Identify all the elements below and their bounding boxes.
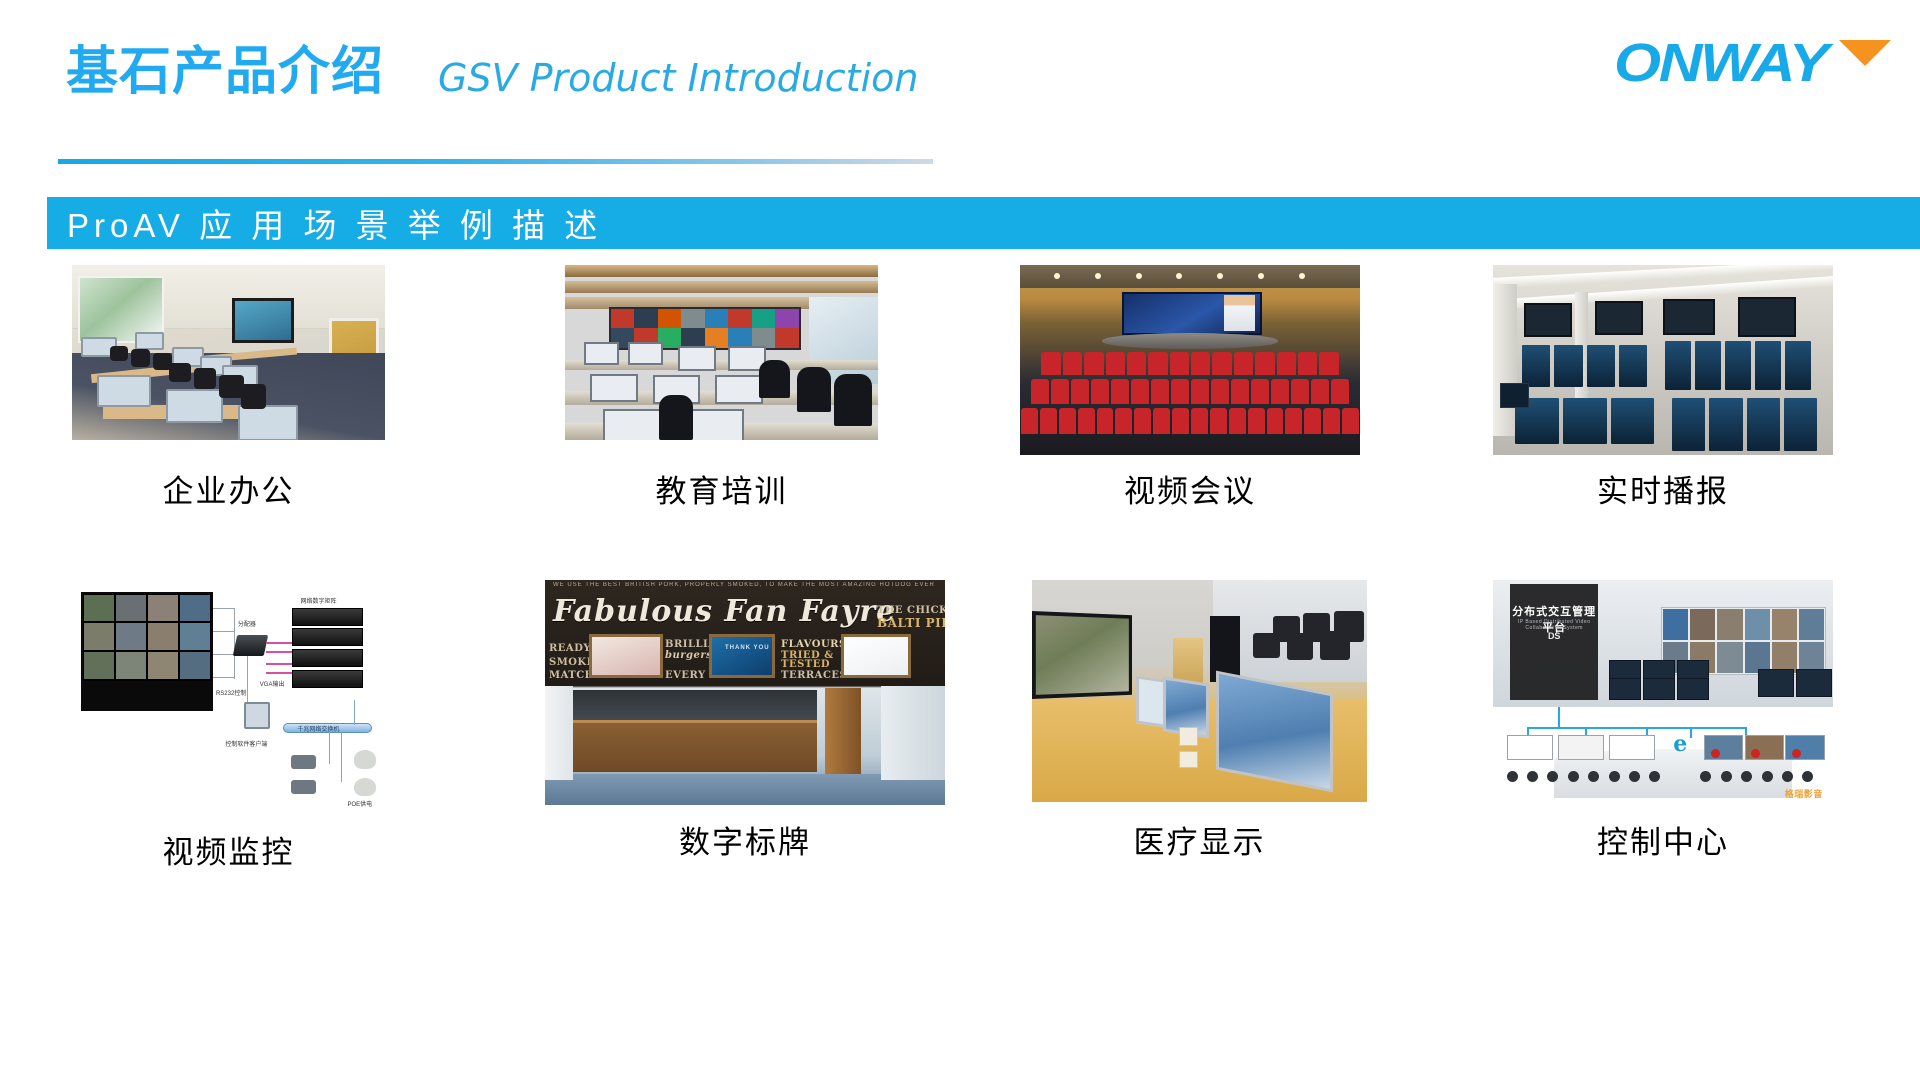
scenario-caption: 企业办公 (72, 473, 385, 511)
digital-signage-photo: WE USE THE BEST BRITISH PORK, PROPERLY S… (545, 580, 945, 805)
control-center-photo: 分布式交互管理平台 IP Based Distributed Video Col… (1493, 580, 1833, 802)
medical-display-photo (1032, 580, 1367, 802)
signage-screen-text: THANK YOU (725, 645, 770, 651)
realtime-broadcast-photo (1493, 265, 1833, 455)
page-title-en: GSV Product Introduction (438, 54, 918, 102)
scenario-grid: 企业办公 (0, 265, 1920, 895)
scenario-cell-medical-display[interactable]: 医疗显示 (1032, 580, 1367, 862)
scenario-caption: 医疗显示 (1032, 824, 1367, 862)
section-banner: ProAV 应 用 场 景 举 例 描 述 (47, 197, 1920, 249)
signage-top-strip: WE USE THE BEST BRITISH PORK, PROPERLY S… (553, 582, 937, 588)
scenario-cell-control-center[interactable]: 分布式交互管理平台 IP Based Distributed Video Col… (1493, 580, 1833, 862)
scenario-cell-enterprise-office[interactable]: 企业办公 (72, 265, 385, 511)
section-banner-label: ProAV 应 用 场 景 举 例 描 述 (67, 199, 602, 247)
scenario-cell-education-training[interactable]: 教育培训 (565, 265, 878, 511)
scenario-row-1: 企业办公 (0, 265, 1920, 575)
scenario-cell-video-conference[interactable]: 视频会议 (1020, 265, 1360, 511)
scenario-caption: 控制中心 (1493, 824, 1833, 862)
page-title-cn: 基石产品介绍 (66, 42, 384, 102)
enterprise-office-photo (72, 265, 385, 440)
scenario-caption: 数字标牌 (545, 824, 945, 862)
video-conference-photo (1020, 265, 1360, 455)
scenario-cell-digital-signage[interactable]: WE USE THE BEST BRITISH PORK, PROPERLY S… (545, 580, 945, 862)
video-surveillance-diagram: 分配器 VGA输出 网络数字矩阵 RS232控制 控制软件客户端 (72, 580, 385, 810)
slide-header: 基石产品介绍 GSV Product Introduction ONWAY (0, 0, 1920, 170)
scenario-cell-realtime-broadcast[interactable]: 实时播报 (1493, 265, 1833, 511)
control-center-overlay-model: DS (1510, 631, 1598, 641)
scenario-caption: 视频会议 (1020, 473, 1360, 511)
brand-logo: ONWAY (1614, 34, 1894, 96)
scenario-row-2: 分配器 VGA输出 网络数字矩阵 RS232控制 控制软件客户端 (0, 575, 1920, 895)
header-divider (58, 159, 933, 164)
scenario-caption: 教育培训 (565, 473, 878, 511)
orange-triangle-icon (1839, 40, 1891, 66)
control-center-watermark: 格瑞影音 (1785, 787, 1823, 800)
scenario-caption: 实时播报 (1493, 473, 1833, 511)
control-center-overlay-subtitle: IP Based Distributed Video Collaboration… (1510, 619, 1598, 631)
brand-logo-text: ONWAY (1614, 34, 1827, 92)
education-training-photo (565, 265, 878, 440)
signage-headline: Fabulous Fan Fayre (553, 594, 841, 629)
scenario-caption: 视频监控 (72, 834, 385, 872)
scenario-cell-video-surveillance[interactable]: 分配器 VGA输出 网络数字矩阵 RS232控制 控制软件客户端 (72, 580, 385, 872)
